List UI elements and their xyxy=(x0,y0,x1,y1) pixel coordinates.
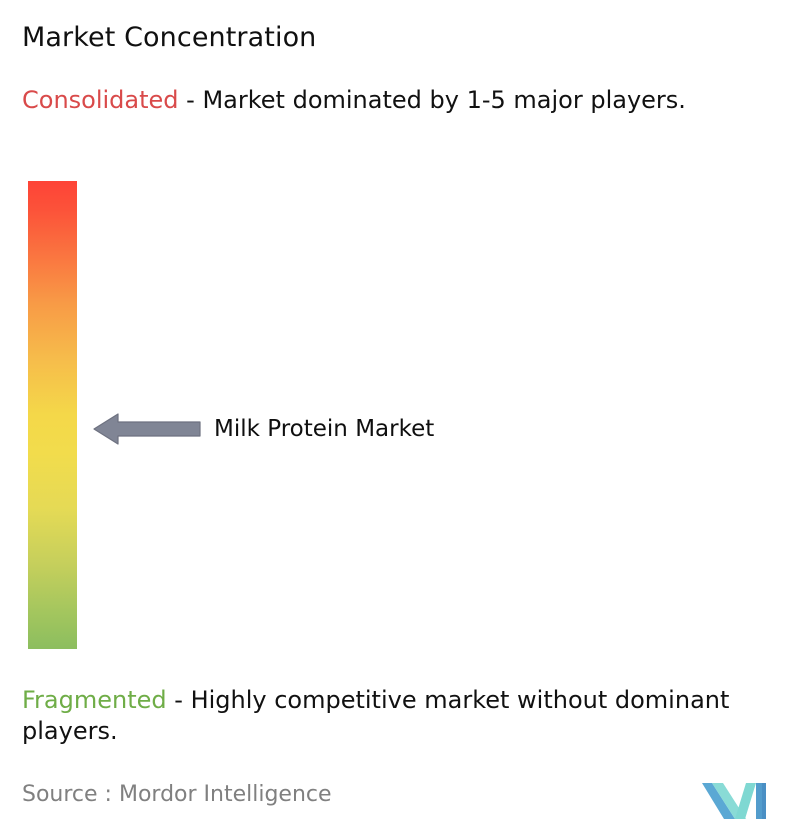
legend-description-consolidated: Market dominated by 1-5 major players. xyxy=(202,86,685,114)
concentration-gradient-bar xyxy=(28,181,77,649)
source-name: Mordor Intelligence xyxy=(119,782,332,807)
page-title: Market Concentration xyxy=(22,21,316,55)
legend-separator-consolidated: - xyxy=(179,86,203,114)
mordor-intelligence-logo-icon xyxy=(702,775,768,819)
source-attribution: Source : Mordor Intelligence xyxy=(22,781,332,809)
market-position-label: Milk Protein Market xyxy=(214,415,434,443)
legend-fragmented: Fragmented - Highly competitive market w… xyxy=(22,685,784,747)
legend-term-consolidated: Consolidated xyxy=(22,86,179,114)
source-label: Source : xyxy=(22,782,112,807)
footer: Source : Mordor Intelligence xyxy=(0,775,796,834)
legend-separator-fragmented: - xyxy=(167,686,191,714)
legend-consolidated: Consolidated - Market dominated by 1-5 m… xyxy=(22,85,762,116)
market-position-marker: Milk Protein Market xyxy=(92,409,434,449)
arrow-left-icon xyxy=(92,410,202,448)
legend-term-fragmented: Fragmented xyxy=(22,686,167,714)
market-concentration-infographic: Market Concentration Consolidated - Mark… xyxy=(0,0,796,834)
